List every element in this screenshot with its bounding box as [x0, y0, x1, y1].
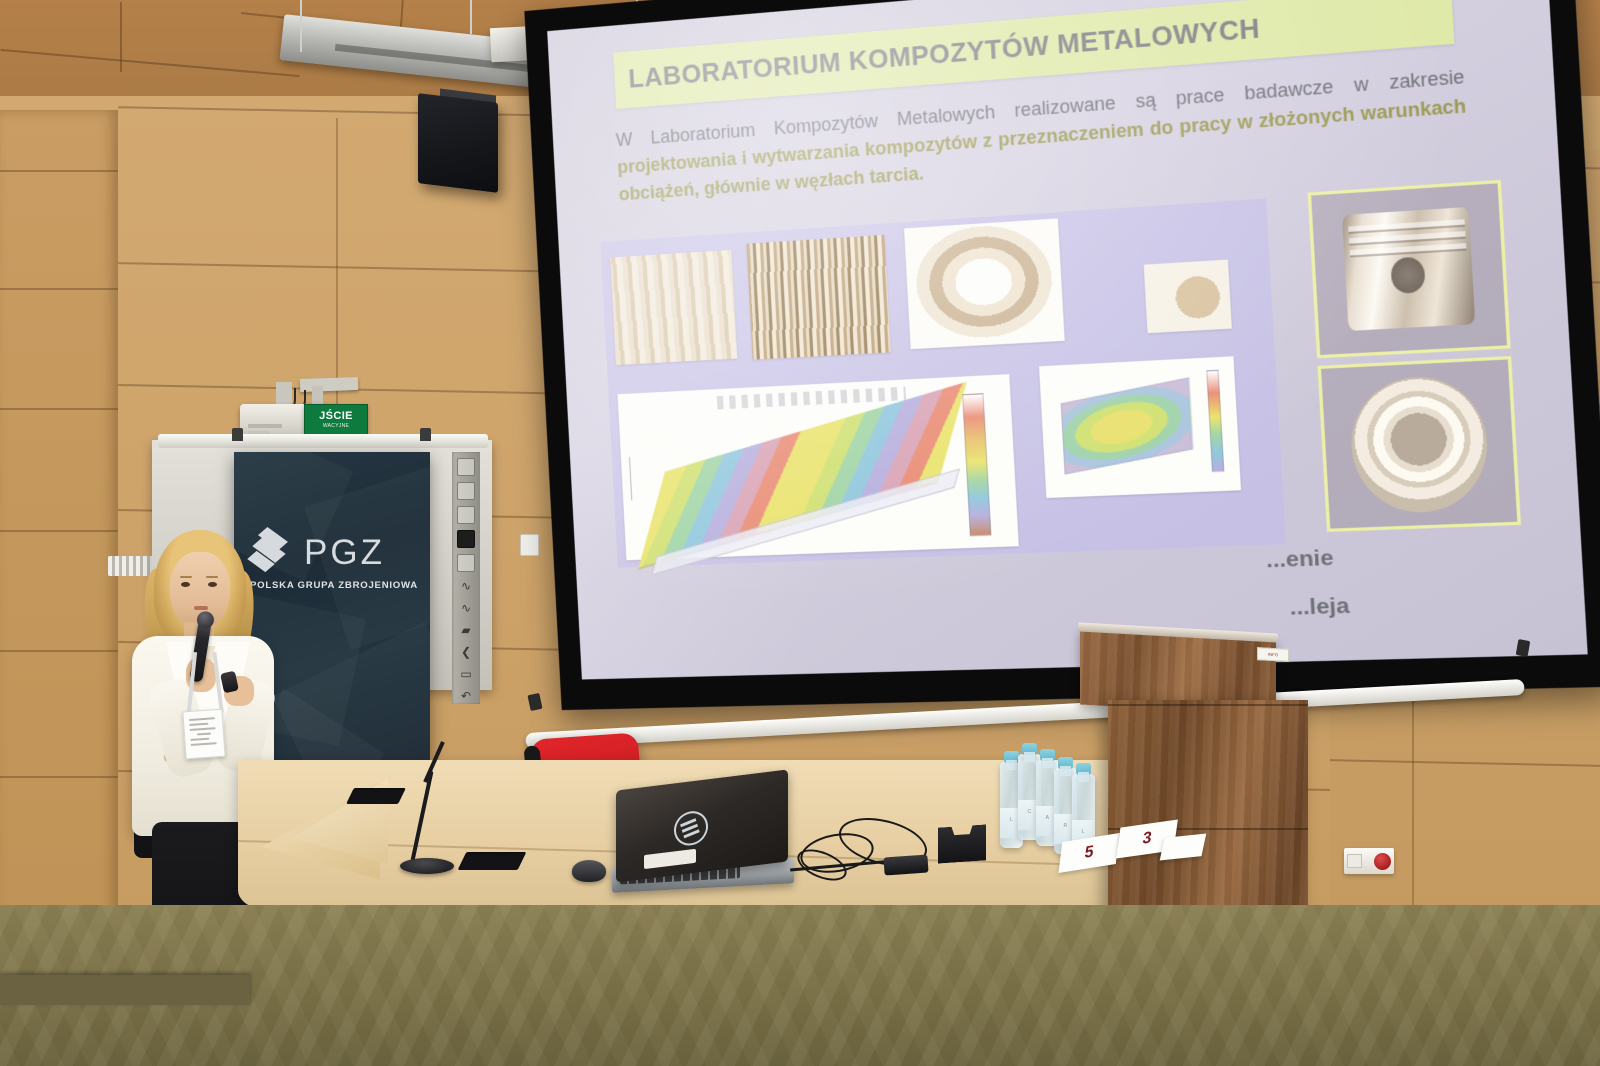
- select-tool-icon[interactable]: [457, 554, 475, 572]
- page-save-icon[interactable]: [457, 482, 475, 500]
- plot-annotation-text: [717, 386, 906, 409]
- micrograph-ring-section: [904, 219, 1066, 349]
- projector-arm: [300, 377, 358, 392]
- pen-medium-icon[interactable]: ∿: [458, 600, 474, 616]
- light-suspension-wire: [470, 0, 472, 34]
- desk-cable-slot: [346, 788, 406, 804]
- pen-thin-icon[interactable]: ∿: [458, 578, 474, 594]
- micrograph-small-inset: [1144, 260, 1232, 333]
- exit-sign-line1: JŚCIE: [319, 411, 353, 422]
- card-label: 3: [1141, 829, 1152, 849]
- lecture-hall-scene: LABORATORIUM KOMPOZYTÓW METALOWYCH W Lab…: [0, 0, 1600, 1066]
- left-wall: [0, 110, 118, 920]
- whiteboard-mount-knob: [420, 428, 431, 441]
- emergency-exit-sign: JŚCIE WACYJNE: [304, 404, 368, 436]
- slide-fragment-bottom: ...leja: [1289, 594, 1350, 621]
- emergency-stop-button-icon[interactable]: [1374, 853, 1391, 870]
- plot-colorbar: [962, 393, 992, 537]
- floor-step: [0, 975, 250, 1005]
- slide-title: LABORATORIUM KOMPOZYTÓW METALOWYCH: [614, 14, 1261, 96]
- exit-sign-line2: WACYJNE: [323, 424, 349, 429]
- eraser-icon[interactable]: ▭: [458, 666, 474, 682]
- pen-thick-icon[interactable]: ❮: [458, 644, 474, 660]
- screen-frame: LABORATORIUM KOMPOZYTÓW METALOWYCH W Lab…: [524, 0, 1600, 710]
- piston-photo: [1308, 179, 1511, 358]
- whiteboard-rail: [158, 434, 488, 448]
- laptop-sticker: [644, 849, 696, 869]
- whiteboard-toolbar[interactable]: ∿ ∿ ▰ ❮ ▭ ↶: [452, 452, 480, 704]
- map-colorbar: [1206, 370, 1224, 472]
- dell-logo-icon: [670, 806, 712, 851]
- desk-cable-slot: [458, 852, 527, 870]
- wall-speaker: [418, 93, 498, 193]
- power-adapter-brick: [883, 854, 928, 875]
- pgz-wordmark: PGZ: [304, 535, 385, 570]
- page-blank-icon[interactable]: [457, 506, 475, 524]
- slide-fragment-top: ...enie: [1265, 546, 1334, 574]
- page-new-icon[interactable]: [457, 458, 475, 476]
- projection-screen: LABORATORIUM KOMPOZYTÓW METALOWYCH W Lab…: [505, 0, 1545, 760]
- micrograph-fiber-longitudinal: [610, 250, 737, 365]
- wall-switch-icon[interactable]: [1347, 854, 1362, 868]
- light-suspension-wire: [300, 0, 302, 52]
- bottle-label: L: [1072, 829, 1095, 835]
- wall-emergency-button-panel[interactable]: [1344, 848, 1394, 874]
- screen-canvas: LABORATORIUM KOMPOZYTÓW METALOWYCH W Lab…: [547, 0, 1588, 679]
- card-label: 5: [1083, 843, 1094, 863]
- desk-microphone-base: [400, 858, 454, 874]
- slide-image-panel: [600, 198, 1286, 567]
- undo-icon[interactable]: ↶: [458, 688, 474, 704]
- bearing-disc-photo: [1318, 356, 1522, 532]
- color-black-icon[interactable]: [457, 530, 475, 548]
- lectern-label-plate: INFO: [1257, 647, 1289, 662]
- slide: LABORATORIUM KOMPOZYTÓW METALOWYCH W Lab…: [547, 0, 1588, 679]
- highlighter-icon[interactable]: ▰: [458, 622, 474, 638]
- surface-topography-3d-plot: [618, 374, 1019, 560]
- surface-map-2d-plot: [1039, 356, 1240, 498]
- micrograph-fiber-texture: [747, 235, 891, 359]
- whiteboard-mount-knob: [232, 428, 243, 441]
- computer-mouse[interactable]: [572, 860, 606, 882]
- conference-badge: [182, 709, 225, 760]
- screen-tension-hook: [527, 693, 542, 711]
